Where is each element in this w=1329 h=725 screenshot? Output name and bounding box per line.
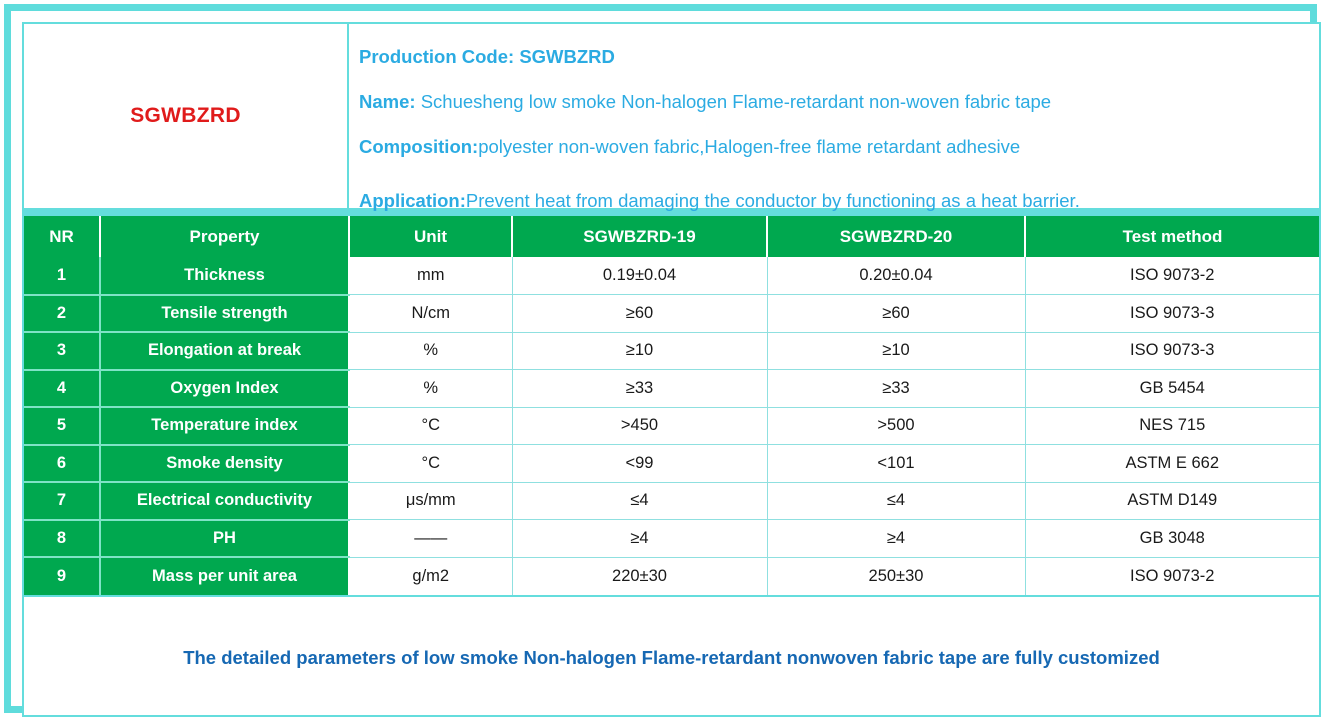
row-nr: 3	[24, 332, 100, 370]
product-description: Production Code: SGWBZRD Name: Schueshen…	[349, 24, 1319, 208]
row-unit: °C	[349, 407, 512, 445]
row-unit: μs/mm	[349, 482, 512, 520]
name-value: Schuesheng low smoke Non-halogen Flame-r…	[416, 91, 1052, 112]
row-nr: 9	[24, 557, 100, 595]
row-value-sgwbzrd-20: ≥10	[767, 332, 1025, 370]
table-row: 8PH——≥4≥4GB 3048	[24, 520, 1319, 558]
column-header-nr: NR	[24, 216, 100, 257]
composition-label: Composition:	[359, 136, 478, 157]
row-nr: 4	[24, 370, 100, 408]
row-unit: %	[349, 370, 512, 408]
row-unit: N/cm	[349, 295, 512, 333]
row-test-method: ISO 9073-3	[1025, 295, 1319, 333]
row-test-method: ISO 9073-2	[1025, 557, 1319, 595]
production-code-value: SGWBZRD	[514, 46, 615, 67]
row-value-sgwbzrd-19: 220±30	[512, 557, 767, 595]
row-test-method: ASTM D149	[1025, 482, 1319, 520]
row-value-sgwbzrd-19: 0.19±0.04	[512, 257, 767, 295]
table-row: 1Thicknessmm0.19±0.040.20±0.04ISO 9073-2	[24, 257, 1319, 295]
row-nr: 7	[24, 482, 100, 520]
table-row: 2Tensile strengthN/cm≥60≥60ISO 9073-3	[24, 295, 1319, 333]
row-property: Oxygen Index	[100, 370, 349, 408]
row-test-method: ISO 9073-3	[1025, 332, 1319, 370]
production-code-label: Production Code:	[359, 46, 514, 67]
product-summary: SGWBZRD Production Code: SGWBZRD Name: S…	[24, 24, 1319, 208]
row-value-sgwbzrd-20: >500	[767, 407, 1025, 445]
row-unit: ——	[349, 520, 512, 558]
name-label: Name:	[359, 91, 416, 112]
row-value-sgwbzrd-19: ≥60	[512, 295, 767, 333]
row-property: Smoke density	[100, 445, 349, 483]
table-row: 7Electrical conductivityμs/mm≤4≤4ASTM D1…	[24, 482, 1319, 520]
table-row: 9Mass per unit areag/m2220±30250±30ISO 9…	[24, 557, 1319, 595]
column-header-property: Property	[100, 216, 349, 257]
row-unit: %	[349, 332, 512, 370]
row-value-sgwbzrd-20: ≥4	[767, 520, 1025, 558]
row-value-sgwbzrd-19: ≥4	[512, 520, 767, 558]
row-test-method: NES 715	[1025, 407, 1319, 445]
row-property: PH	[100, 520, 349, 558]
table-row: 3Elongation at break%≥10≥10ISO 9073-3	[24, 332, 1319, 370]
row-test-method: ISO 9073-2	[1025, 257, 1319, 295]
row-nr: 5	[24, 407, 100, 445]
specification-table: NR Property Unit SGWBZRD-19 SGWBZRD-20 T…	[24, 216, 1319, 595]
row-test-method: GB 3048	[1025, 520, 1319, 558]
row-value-sgwbzrd-20: ≥60	[767, 295, 1025, 333]
table-body: 1Thicknessmm0.19±0.040.20±0.04ISO 9073-2…	[24, 257, 1319, 595]
row-nr: 1	[24, 257, 100, 295]
table-row: 5Temperature index°C>450>500NES 715	[24, 407, 1319, 445]
composition-value: polyester non-woven fabric,Halogen-free …	[478, 136, 1020, 157]
inner-frame: SGWBZRD Production Code: SGWBZRD Name: S…	[22, 22, 1321, 717]
row-unit: g/m2	[349, 557, 512, 595]
outer-frame: SGWBZRD Production Code: SGWBZRD Name: S…	[4, 4, 1317, 713]
row-property: Electrical conductivity	[100, 482, 349, 520]
row-nr: 6	[24, 445, 100, 483]
application-value: Prevent heat from damaging the conductor…	[466, 190, 1080, 211]
application-label: Application:	[359, 190, 466, 211]
table-row: 4Oxygen Index%≥33≥33GB 5454	[24, 370, 1319, 408]
product-code-logo: SGWBZRD	[130, 104, 241, 128]
row-nr: 2	[24, 295, 100, 333]
row-unit: °C	[349, 445, 512, 483]
row-property: Thickness	[100, 257, 349, 295]
row-value-sgwbzrd-20: 0.20±0.04	[767, 257, 1025, 295]
row-value-sgwbzrd-19: ≥10	[512, 332, 767, 370]
name-line: Name: Schuesheng low smoke Non-halogen F…	[359, 79, 1319, 124]
row-property: Tensile strength	[100, 295, 349, 333]
footer-note: The detailed parameters of low smoke Non…	[183, 647, 1160, 669]
row-value-sgwbzrd-20: 250±30	[767, 557, 1025, 595]
application-line: Application:Prevent heat from damaging t…	[359, 178, 1319, 223]
row-property: Mass per unit area	[100, 557, 349, 595]
row-test-method: GB 5454	[1025, 370, 1319, 408]
product-logo-cell: SGWBZRD	[24, 24, 349, 208]
row-value-sgwbzrd-19: ≤4	[512, 482, 767, 520]
row-value-sgwbzrd-19: >450	[512, 407, 767, 445]
row-unit: mm	[349, 257, 512, 295]
row-value-sgwbzrd-20: ≥33	[767, 370, 1025, 408]
table-row: 6Smoke density°C<99<101ASTM E 662	[24, 445, 1319, 483]
row-value-sgwbzrd-19: ≥33	[512, 370, 767, 408]
row-value-sgwbzrd-20: <101	[767, 445, 1025, 483]
row-nr: 8	[24, 520, 100, 558]
production-code-line: Production Code: SGWBZRD	[359, 34, 1319, 79]
row-value-sgwbzrd-19: <99	[512, 445, 767, 483]
composition-line: Composition:polyester non-woven fabric,H…	[359, 124, 1319, 169]
row-test-method: ASTM E 662	[1025, 445, 1319, 483]
row-property: Temperature index	[100, 407, 349, 445]
row-property: Elongation at break	[100, 332, 349, 370]
row-value-sgwbzrd-20: ≤4	[767, 482, 1025, 520]
footer-section: The detailed parameters of low smoke Non…	[24, 595, 1319, 718]
